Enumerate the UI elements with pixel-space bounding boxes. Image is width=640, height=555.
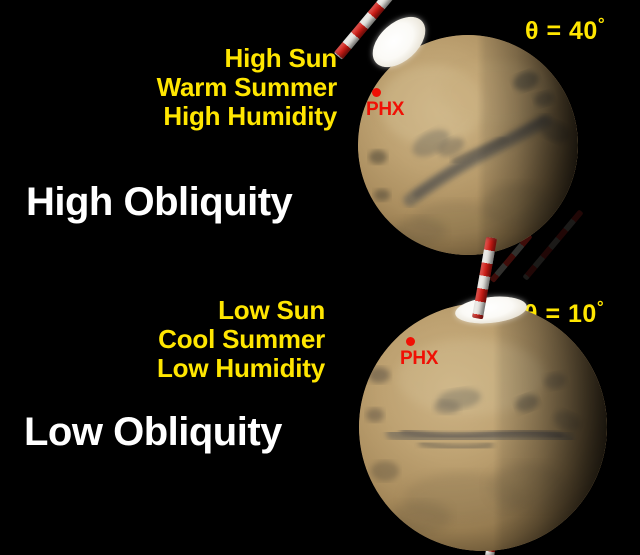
landing-site-dot-icon-low xyxy=(406,337,415,346)
condition-line-low-humidity: Low Humidity xyxy=(0,354,325,383)
phx-marker-low: PHX xyxy=(400,337,470,377)
planet-disc-high xyxy=(358,35,578,255)
low-obliquity-title: Low Obliquity xyxy=(24,410,344,455)
phx-label-low: PHX xyxy=(400,348,438,370)
phx-marker-high: PHX xyxy=(366,88,436,128)
globe-vignette-high xyxy=(358,35,578,255)
condition-line-low-sun: Low Sun xyxy=(0,296,325,325)
planet-disc-low xyxy=(359,303,607,551)
condition-line-warm-summer: Warm Summer xyxy=(0,73,337,102)
condition-line-cool-summer: Cool Summer xyxy=(0,325,325,354)
low-obliquity-conditions: Low Sun Cool Summer Low Humidity xyxy=(0,296,325,383)
mars-globe-low-obliquity xyxy=(355,265,640,555)
globe-vignette-low xyxy=(359,303,607,551)
condition-line-high-sun: High Sun xyxy=(0,44,337,73)
landing-site-dot-icon-high xyxy=(372,88,381,97)
condition-line-high-humidity: High Humidity xyxy=(0,102,337,131)
obliquity-comparison-figure: High Sun Warm Summer High Humidity High … xyxy=(0,0,640,555)
high-obliquity-conditions: High Sun Warm Summer High Humidity xyxy=(0,44,337,131)
high-obliquity-title: High Obliquity xyxy=(26,180,346,225)
phx-label-high: PHX xyxy=(366,99,404,121)
